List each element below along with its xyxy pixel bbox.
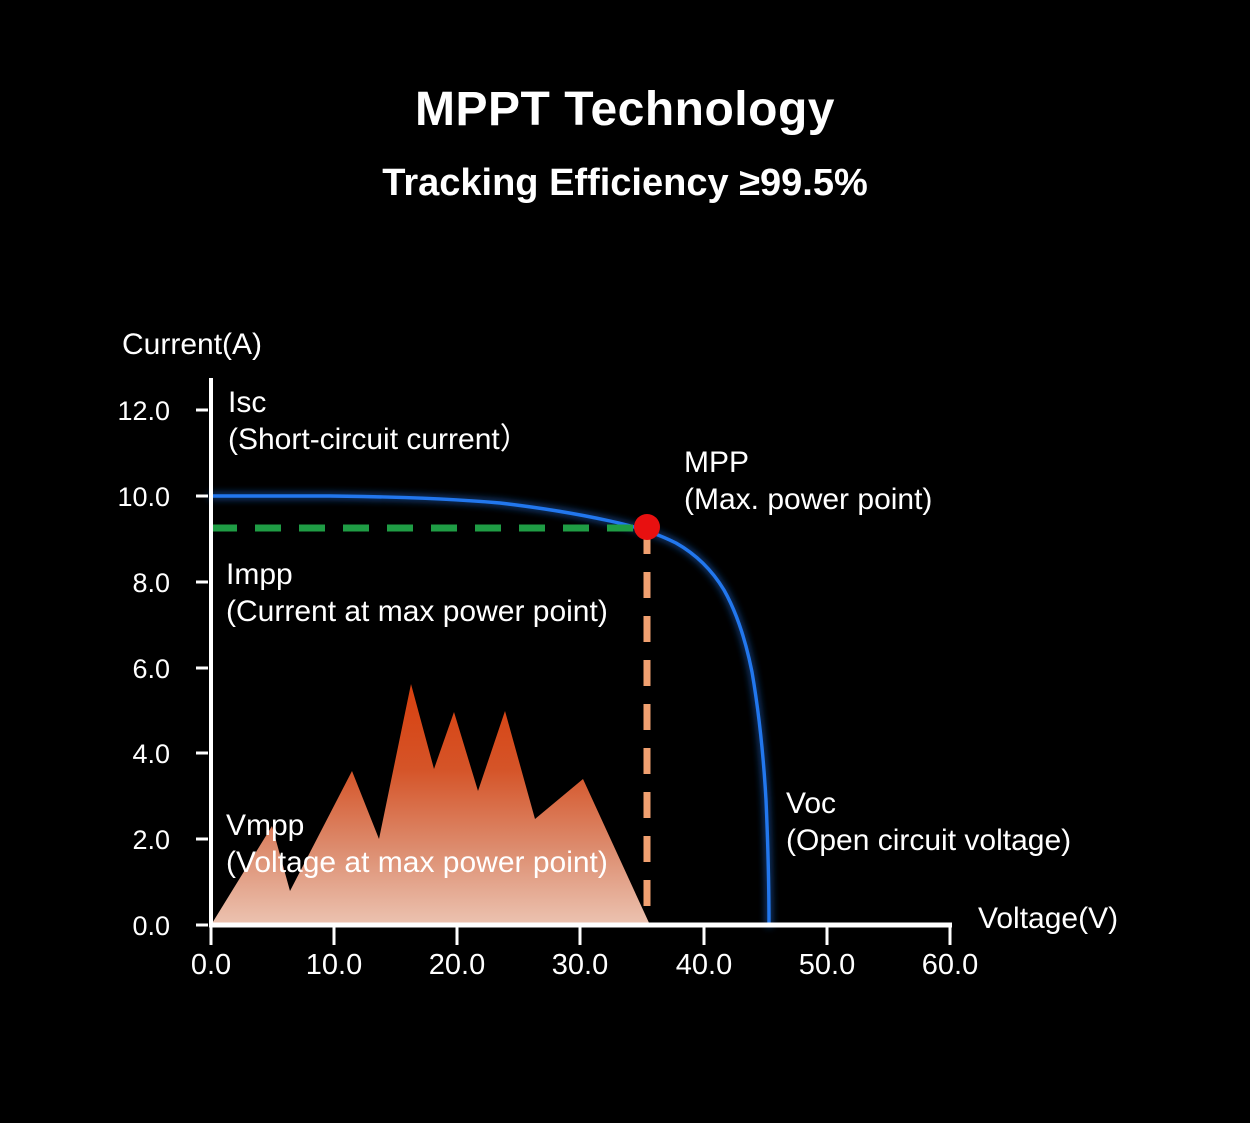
y-tick-label-0: 0.0 [60,911,170,942]
annotation-impp-desc: (Current at max power point) [226,594,608,631]
y-tick-label-12: 12.0 [60,396,170,427]
x-tick-label-30: 30.0 [520,949,640,982]
x-tick-label-0: 0.0 [151,949,271,982]
y-tick-label-4: 4.0 [60,739,170,770]
y-tick-label-8: 8.0 [60,568,170,599]
annotation-impp-key: Impp [226,557,608,594]
y-tick-label-6: 6.0 [60,654,170,685]
annotation-vmpp-desc: (Voltage at max power point) [226,845,608,882]
chart-canvas: MPPT Technology Tracking Efficiency ≥99.… [0,0,1250,1123]
annotation-isc-key: Isc [228,385,530,422]
annotation-impp: Impp (Current at max power point) [226,557,608,630]
x-tick-label-60: 60.0 [890,949,1010,982]
annotation-mpp-desc: (Max. power point) [684,482,932,519]
annotation-voc-key: Voc [786,786,1071,823]
annotation-mpp: MPP (Max. power point) [684,445,932,518]
annotation-vmpp: Vmpp (Voltage at max power point) [226,808,608,881]
x-tick-label-40: 40.0 [644,949,764,982]
annotation-isc: Isc (Short-circuit current） [228,385,530,458]
x-tick-label-50: 50.0 [767,949,887,982]
annotation-voc: Voc (Open circuit voltage) [786,786,1071,859]
annotation-voc-desc: (Open circuit voltage) [786,823,1071,860]
iv-curve-chart: Current(A) Voltage(V) 12.0 10.0 8.0 6.0 … [0,0,1250,1123]
y-axis-title: Current(A) [122,328,262,362]
y-tick-label-10: 10.0 [60,482,170,513]
x-axis-ticks [211,927,950,945]
x-tick-label-20: 20.0 [397,949,517,982]
y-axis-ticks [196,410,208,925]
mpp-marker[interactable] [634,514,660,540]
y-tick-label-2: 2.0 [60,825,170,856]
annotation-vmpp-key: Vmpp [226,808,608,845]
x-tick-label-10: 10.0 [274,949,394,982]
annotation-isc-desc: (Short-circuit current） [228,422,530,459]
power-profile-area [211,684,650,925]
annotation-mpp-key: MPP [684,445,932,482]
x-axis-title: Voltage(V) [978,902,1118,936]
